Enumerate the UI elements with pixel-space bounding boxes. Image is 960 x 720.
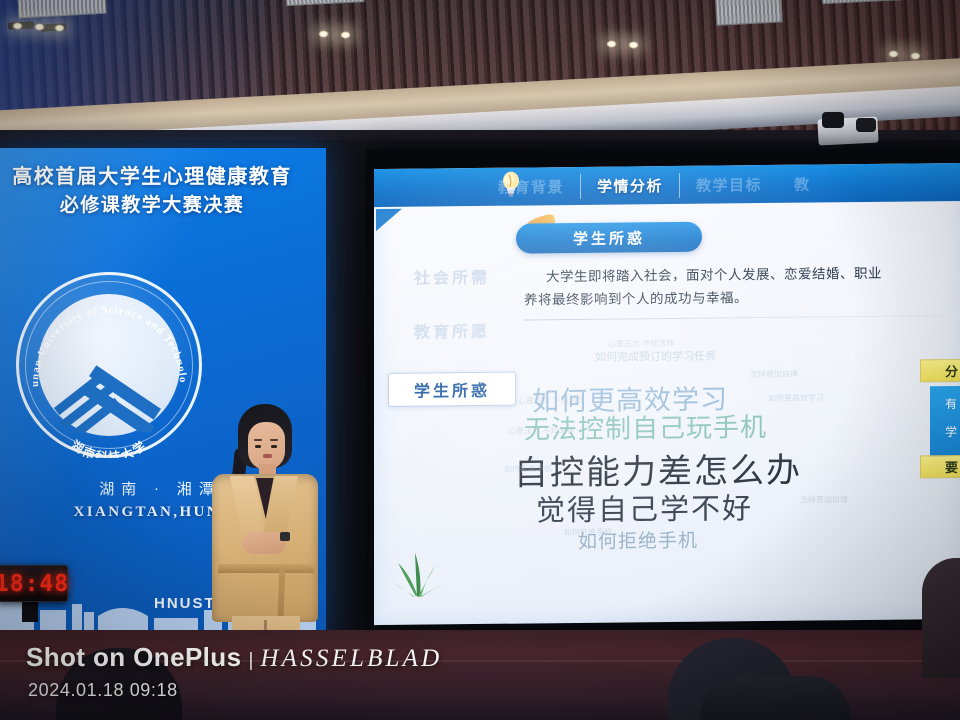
sidebar-item-jiaoyusuoyuan[interactable]: 教育所愿 — [388, 318, 516, 343]
right-blue-panel: 有 学 — [930, 386, 960, 460]
cloud-word-filler: 心里压力 不知怎样 — [518, 395, 585, 407]
ceiling-spotlight — [318, 30, 329, 38]
camera-head — [822, 112, 844, 128]
slide-body-text: 大学生即将踏入社会，面对个人发展、恋爱结婚、职业 养将最终影响到个人的成功与幸福… — [524, 261, 954, 312]
photo-frame: 高校首届大学生心理健康教育 必修课教学大赛决赛 Hunan University… — [0, 0, 960, 720]
word-cloud: 心里压力 不知怎样 如何完成预订的学习任务 怎样更加自律 如何更高效学习 无法控… — [500, 333, 920, 557]
ceiling-spotlight — [628, 41, 639, 49]
audience-shoulders-center — [700, 676, 850, 720]
cloud-word-small-top: 如何完成预订的学习任务 — [595, 348, 716, 365]
tab-jiaoxuemubiao[interactable]: 教学目标 — [680, 172, 778, 198]
eyebrow — [270, 439, 278, 441]
event-title-line1: 高校首届大学生心理健康教育 — [0, 164, 326, 190]
watermark-brand: Shot on OnePlus — [26, 642, 241, 673]
ceiling-spotlight — [340, 31, 351, 39]
body-line-2: 养将最终影响到个人的成功与幸福。 — [524, 284, 954, 312]
audience-head-right — [922, 558, 960, 678]
presentation-slide: 教育背景 学情分析 教学目标 教 社会所需 教育所愿 学生所惑 学生所惑 — [374, 163, 960, 625]
section-badge: 学生所惑 — [516, 222, 702, 254]
jacket-belt — [218, 564, 314, 573]
cloud-word-filler: 心里压力 不知怎样 — [508, 425, 575, 437]
lightbulb-icon — [500, 170, 522, 200]
camera-watermark: Shot on OnePlus | HASSELBLAD — [26, 642, 442, 673]
presenter-face — [248, 422, 285, 470]
highlight-box-yaosu-label: 要素 — [945, 457, 960, 476]
svg-text:湖南科技大学: 湖南科技大学 — [68, 437, 149, 458]
university-crest: Hunan University of Science and Technolo… — [16, 272, 202, 458]
ceiling-spotlight — [888, 50, 899, 58]
cloud-word-filler: 如何拒绝手机 — [504, 463, 552, 475]
tab-jiaoyubeijing[interactable]: 教育背景 — [482, 174, 580, 200]
countdown-clock: 18:48 — [0, 565, 68, 602]
slide-divider — [524, 315, 944, 320]
event-title: 高校首届大学生心理健康教育 必修课教学大赛决赛 — [0, 164, 326, 219]
clock-stand — [22, 600, 38, 622]
event-title-line2: 必修课教学大赛决赛 — [0, 193, 326, 219]
tab-jiao[interactable]: 教 — [778, 171, 827, 197]
ceiling-spotlight — [12, 22, 23, 30]
mouth — [263, 454, 272, 458]
watermark-timestamp: 2024.01.18 09:18 — [28, 680, 178, 701]
cloud-word-medium-3: 觉得自己学不好 — [536, 485, 753, 529]
eye — [271, 445, 277, 448]
crest-mountain-mark — [46, 358, 172, 432]
ceiling-vent — [715, 0, 782, 26]
camera-head — [856, 118, 876, 132]
ceiling-spotlight — [606, 40, 617, 48]
sidebar-item-shehuisuoxu[interactable]: 社会所需 — [388, 264, 516, 289]
right-blue-line-2: 学 — [930, 422, 960, 442]
cloud-word-filler: 如何拒绝手机 — [564, 527, 612, 539]
ceiling-spotlight — [910, 52, 921, 60]
slide-nav-tabs: 教育背景 学情分析 教学目标 教 — [482, 171, 827, 200]
slide-corner-accent — [376, 209, 402, 231]
countdown-value: 18:48 — [0, 571, 69, 597]
highlight-box-fenxi-label: 分析 — [945, 361, 960, 380]
watermark-partner: HASSELBLAD — [260, 645, 442, 673]
watermark-separator: | — [248, 650, 253, 672]
plant-icon — [388, 544, 446, 599]
cloud-word-filler: 怎样更加自律 — [800, 494, 848, 506]
highlight-box-fenxi: 分析 — [920, 359, 960, 383]
section-badge-label: 学生所惑 — [573, 227, 645, 249]
eyebrow — [254, 439, 262, 441]
sidebar-item-xueshengsuohuo[interactable]: 学生所惑 — [388, 372, 516, 407]
slide-nav-bar: 教育背景 学情分析 教学目标 教 — [374, 163, 960, 207]
cloud-word-filler: 如何更高效学习 — [768, 392, 824, 404]
right-blue-line-1: 有 — [930, 394, 960, 414]
tab-xueqingfenxi[interactable]: 学情分析 — [580, 173, 680, 199]
eye — [255, 445, 261, 448]
ceiling-spotlight — [54, 24, 65, 32]
ceiling-spotlight — [34, 23, 45, 31]
highlight-box-yaosu: 要素 — [920, 455, 960, 479]
cloud-word-filler: 怎样更加自律 — [750, 369, 798, 381]
wristwatch — [280, 532, 290, 541]
slide-sidebar: 社会所需 教育所愿 学生所惑 — [388, 264, 516, 437]
